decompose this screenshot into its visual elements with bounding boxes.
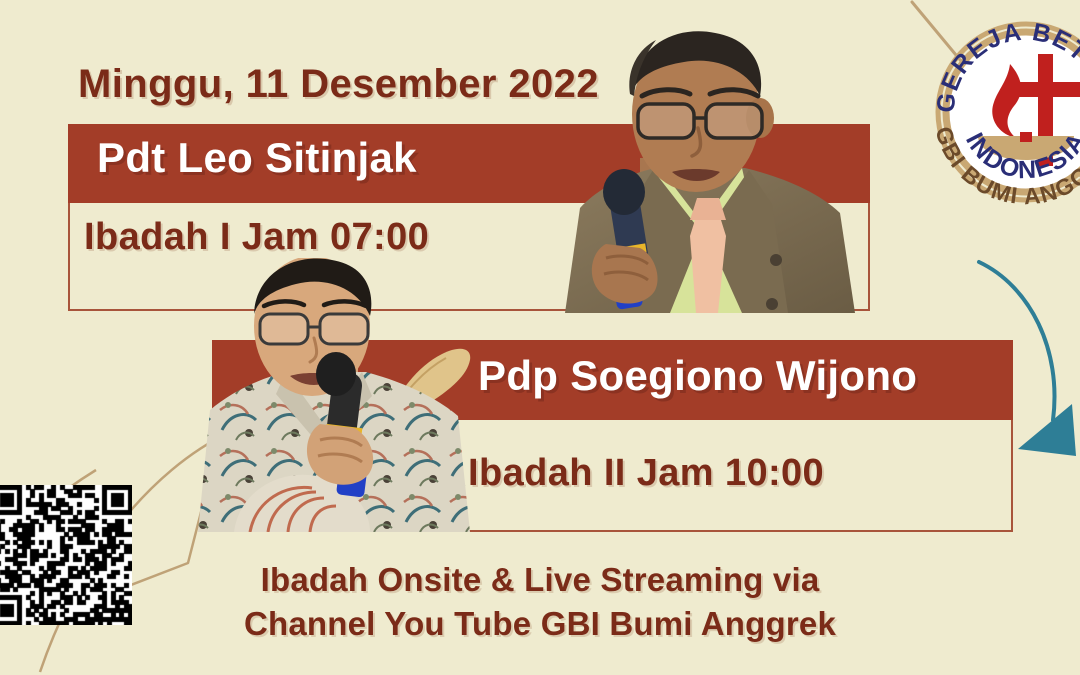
poster-canvas: Minggu, 11 Desember 2022 [0, 0, 1080, 675]
footer-line-1: Ibadah Onsite & Live Streaming via [0, 558, 1080, 602]
footer-line-2: Channel You Tube GBI Bumi Anggrek [0, 602, 1080, 646]
service-1-speaker: Pdt Leo Sitinjak [97, 134, 417, 182]
speaker-one-photo [520, 8, 880, 313]
service-2-time: Ibadah II Jam 10:00 [468, 452, 824, 495]
qr-code[interactable] [0, 485, 132, 625]
footer-text: Ibadah Onsite & Live Streaming via Chann… [0, 558, 1080, 646]
service-2-speaker: Pdp Soegiono Wijono [478, 352, 917, 400]
service-1-time: Ibadah I Jam 07:00 [84, 216, 429, 259]
speaker-two-photo [170, 258, 500, 532]
church-logo: GEREJA BETHEL INDONESIA GBI BUMI ANGGREK [928, 8, 1080, 223]
